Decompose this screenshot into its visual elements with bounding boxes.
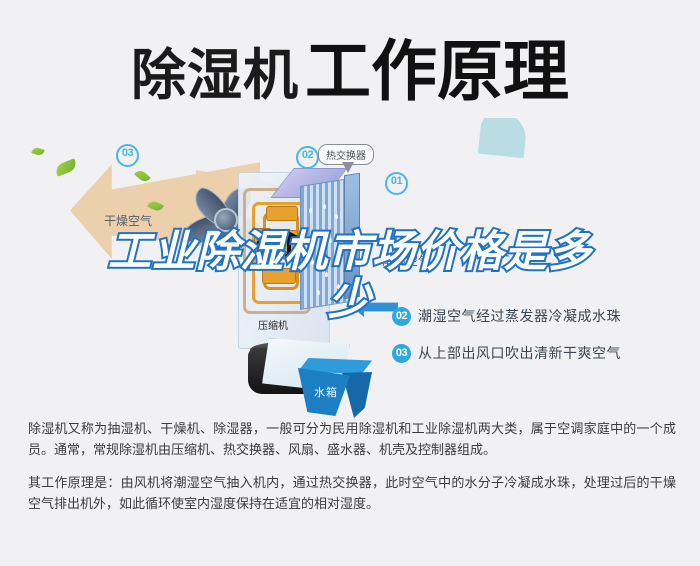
diagram-badge-02: 02 [296, 146, 319, 169]
flow-arrow-down-icon [284, 254, 294, 264]
page-title: 除湿机工作原理 [0, 18, 700, 114]
paragraph-1: 除湿机又称为抽湿机、干燥机、除湿器，一般可分为民用除湿机和工业除湿机两大类，属于… [28, 418, 676, 460]
diagram-badge-01: 01 [385, 172, 408, 195]
legend-item-text: 潮湿空气经过蒸发器冷凝成水珠 [418, 306, 621, 326]
copper-part-graphic [266, 206, 298, 221]
compressor-label: 压缩机 [258, 317, 288, 332]
leaf-icon [134, 168, 151, 184]
copper-part-graphic [262, 268, 296, 284]
diagram-badge-03: 03 [116, 144, 139, 167]
humid-air-label: 潮湿空气 [382, 252, 430, 269]
legend-badge: 02 [392, 307, 411, 326]
legend-item-text: 从上部出风口吹出清新干爽空气 [418, 343, 621, 363]
poster-root: 除湿机工作原理 03 干燥空气 [0, 0, 700, 566]
flow-arrow-stem [259, 242, 263, 258]
article-body: 除湿机又称为抽湿机、干燥机、除湿器，一般可分为民用除湿机和工业除湿机两大类，属于… [28, 418, 676, 522]
heat-exchanger-side-graphic [344, 173, 360, 300]
callout-pointer-icon [342, 162, 354, 173]
dehumidifier-diagram: 03 干燥空气 [0, 110, 700, 410]
leaf-icon [31, 146, 45, 156]
title-part-two: 工作原理 [305, 34, 569, 108]
paragraph-2: 其工作原理是：由风机将潮湿空气抽入机内，通过热交换器，此时空气中的水分子冷凝成水… [28, 472, 676, 514]
flow-arrow-up-icon [256, 234, 266, 244]
flow-arrow-stem [287, 238, 291, 254]
water-tank-graphic: 水箱 [298, 358, 372, 420]
leaf-icon [54, 158, 79, 176]
condensation-droplets-graphic [305, 200, 345, 300]
title-part-one: 除湿机 [131, 44, 299, 106]
water-tank-label: 水箱 [314, 384, 338, 400]
legend-item: 02 潮湿空气经过蒸发器冷凝成水珠 [392, 306, 692, 326]
legend-list: 02 潮湿空气经过蒸发器冷凝成水珠 03 从上部出风口吹出清新干爽空气 [392, 306, 692, 380]
legend-item: 03 从上部出风口吹出清新干爽空气 [392, 343, 692, 363]
legend-badge: 03 [392, 344, 411, 363]
dry-air-label: 干燥空气 [104, 212, 152, 229]
flow-arrow-stem [272, 236, 288, 240]
humid-air-stream-graphic [392, 118, 652, 298]
